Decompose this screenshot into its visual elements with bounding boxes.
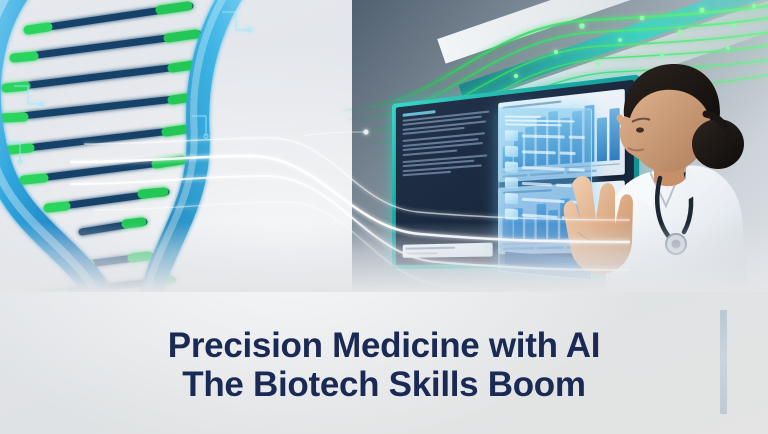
title-block: Precision Medicine with AI The Biotech S… xyxy=(0,296,768,434)
connector-lines xyxy=(70,110,630,292)
poster-canvas: Precision Medicine with AI The Biotech S… xyxy=(0,0,768,434)
title-accent-bar xyxy=(720,310,727,414)
title-line-2: The Biotech Skills Boom xyxy=(182,365,585,404)
title-line-1: Precision Medicine with AI xyxy=(168,326,600,365)
hero-artwork xyxy=(0,0,768,292)
